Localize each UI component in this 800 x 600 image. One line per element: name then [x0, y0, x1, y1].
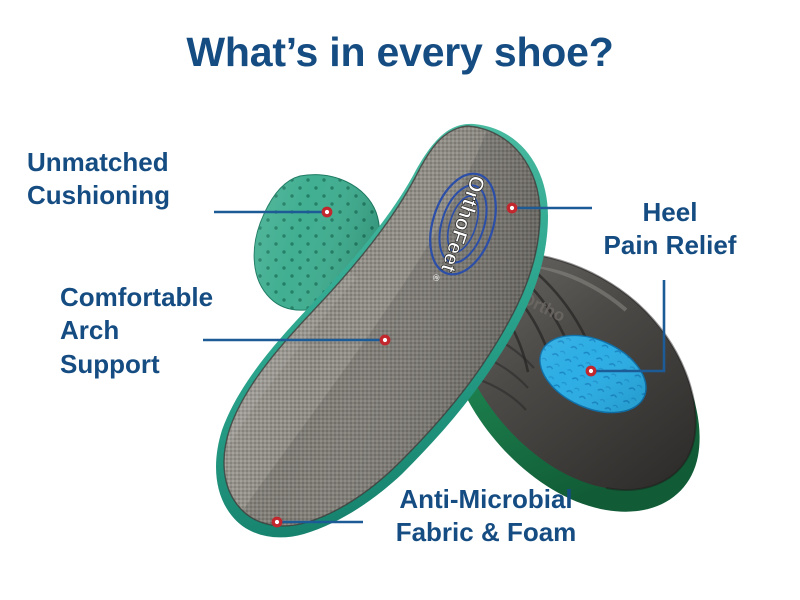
page-title: What’s in every shoe? — [0, 30, 800, 75]
callout-label-anti-microbial: Anti-Microbial Fabric & Foam — [366, 483, 606, 550]
callout-label-arch-support: Comfortable Arch Support — [60, 281, 213, 381]
marker-heel-top — [507, 203, 518, 214]
marker-cushioning — [322, 207, 333, 218]
infographic-canvas: Ortho — [0, 0, 800, 600]
marker-antimicrobial — [272, 517, 283, 528]
callout-label-cushioning: Unmatched Cushioning — [27, 146, 170, 213]
callout-label-heel-pain-relief: Heel Pain Relief — [548, 196, 792, 263]
marker-arch — [380, 335, 391, 346]
marker-heel-gel — [586, 366, 597, 377]
